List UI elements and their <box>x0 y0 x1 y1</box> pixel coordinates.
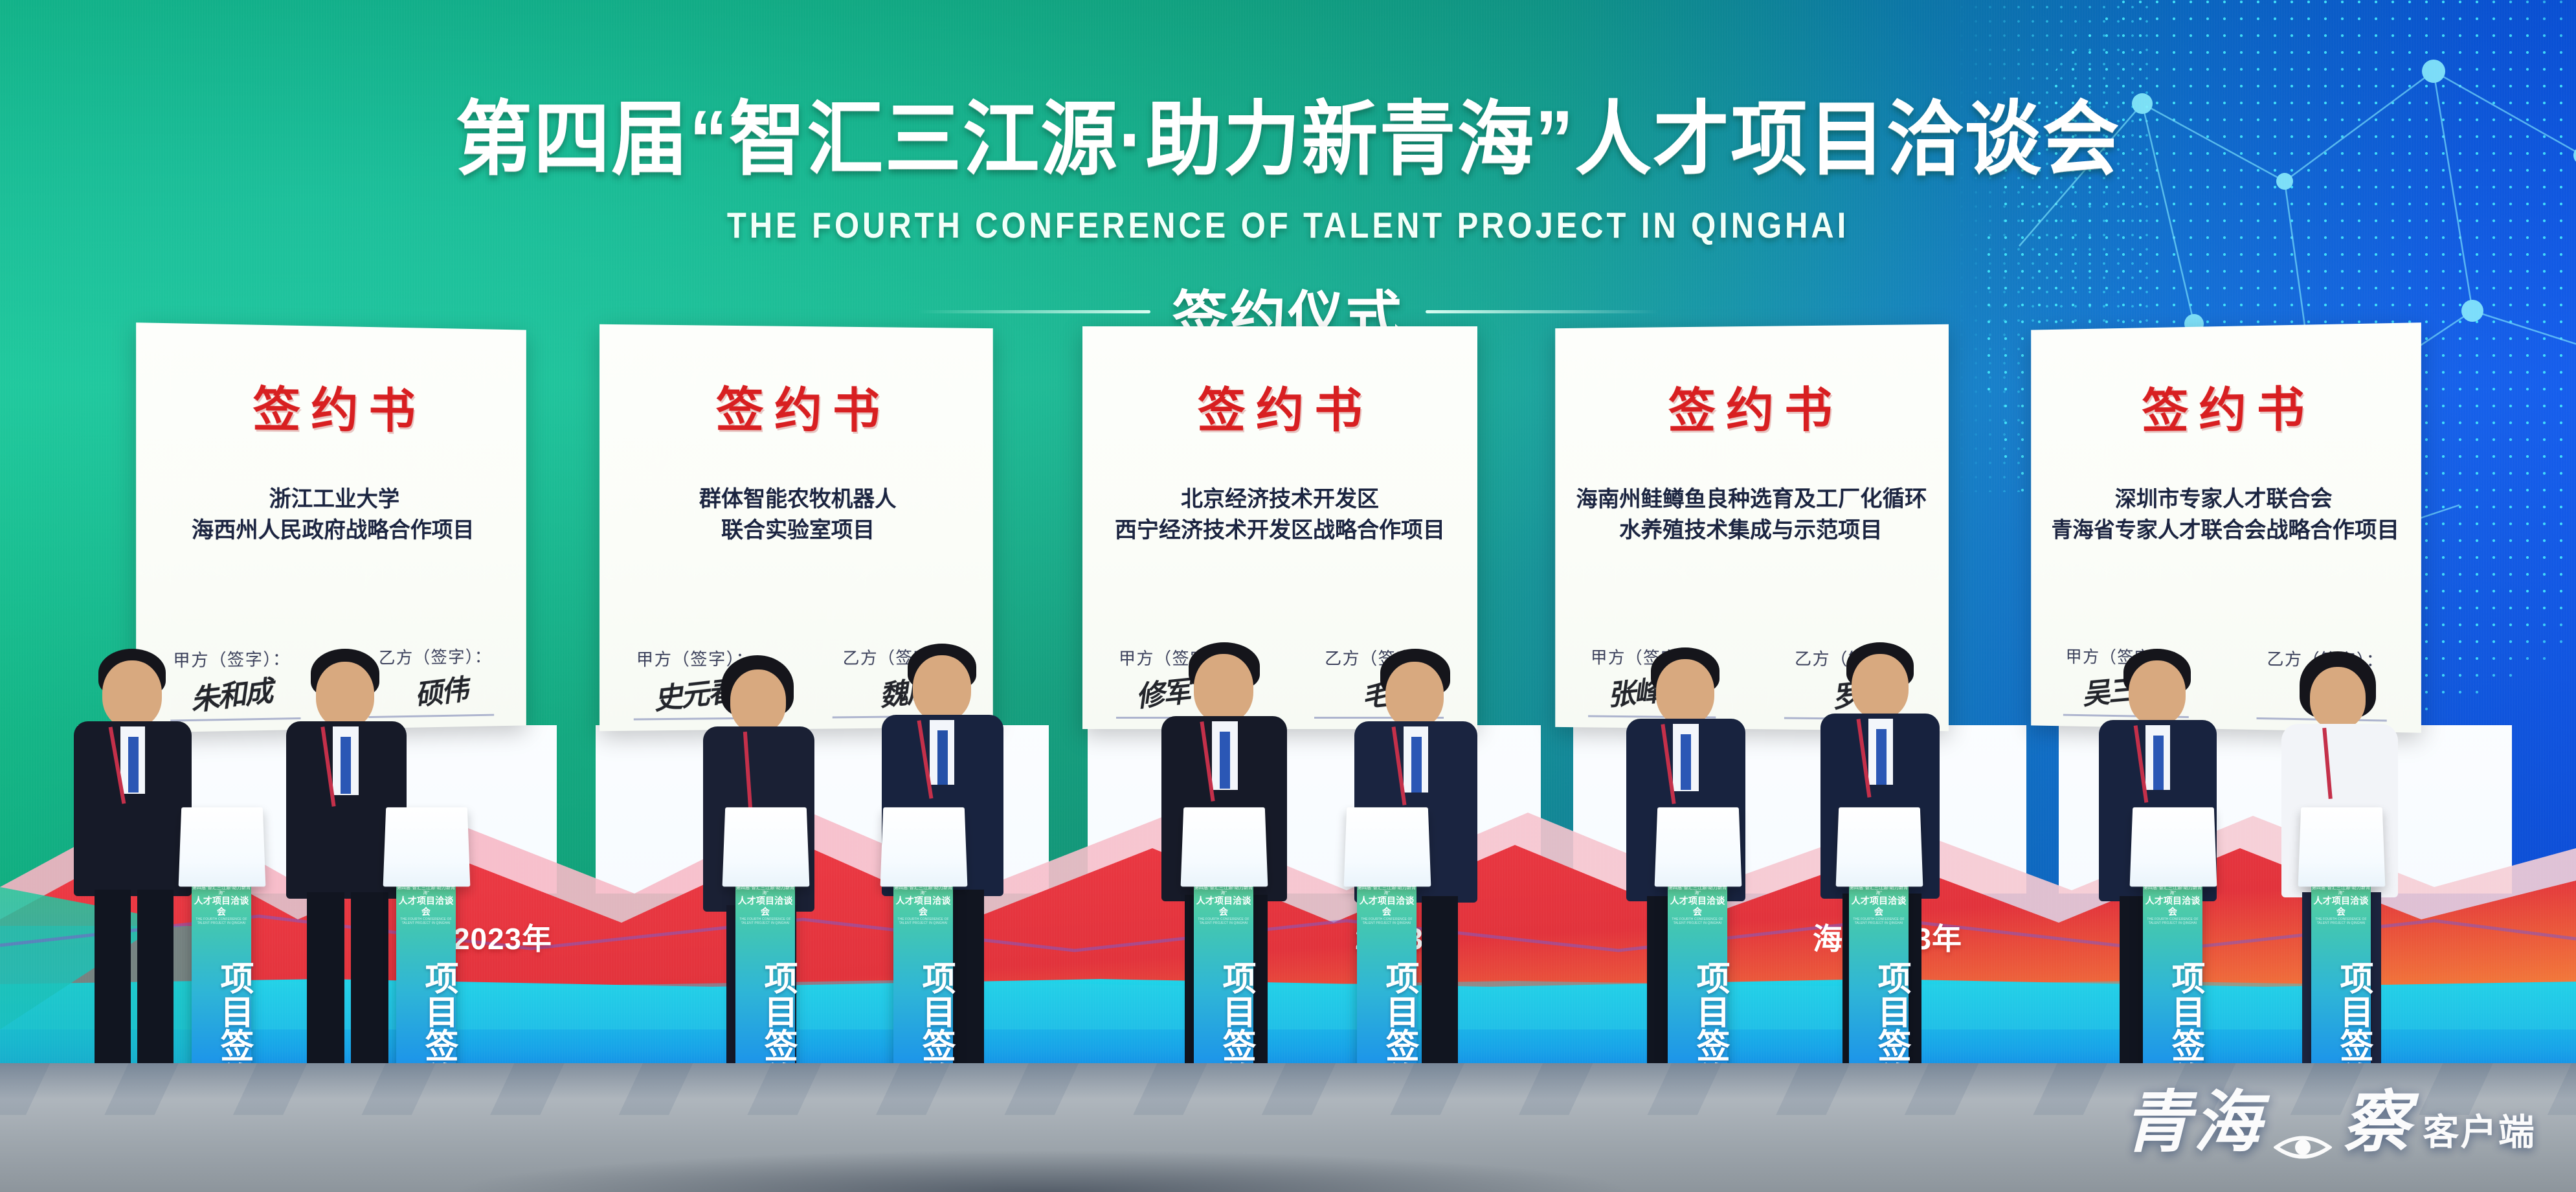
backdrop-year-label-1: 2023年 <box>453 916 552 958</box>
podium-desktop <box>1836 807 1923 887</box>
signature-party-b: 硕伟 <box>413 666 469 714</box>
podium-header-tiny: 第四届“智汇三江源·助力新青海” <box>192 886 251 895</box>
board-title: 签约书 <box>1082 372 1477 441</box>
podium-desktop <box>179 807 266 887</box>
podium-header-main: 人才项目洽谈会 <box>893 895 953 917</box>
podium-header-english: THE FOURTH CONFERENCE OF TALENT PROJECT … <box>192 917 251 925</box>
podium-header: 第四届“智汇三江源·助力新青海” 人才项目洽谈会 THE FOURTH CONF… <box>1668 886 1727 925</box>
board-project: 群体智能农牧机器人 联合实验室项目 <box>599 483 993 546</box>
podium-desktop <box>2130 807 2217 887</box>
podium-header-main: 人才项目洽谈会 <box>2143 895 2202 917</box>
podium-header: 第四届“智汇三江源·助力新青海” 人才项目洽谈会 THE FOURTH CONF… <box>2311 886 2371 925</box>
podium-desktop <box>1655 807 1742 887</box>
podium-header-english: THE FOURTH CONFERENCE OF TALENT PROJECT … <box>1194 917 1253 925</box>
podium-header-main: 人才项目洽谈会 <box>1357 895 1417 917</box>
subtitle-rule-right <box>1426 310 1659 313</box>
podium-desktop <box>383 807 471 887</box>
board-title: 签约书 <box>136 368 526 442</box>
podium-desktop <box>722 807 810 887</box>
eye-icon <box>2274 1130 2332 1165</box>
conference-signing-ceremony-photo: 第四届“智汇三江源·助力新青海”人才项目洽谈会 THE FOURTH CONFE… <box>0 0 2576 1192</box>
podium-header-main: 人才项目洽谈会 <box>1849 895 1909 917</box>
podium-header-tiny: 第四届“智汇三江源·助力新青海” <box>2143 886 2202 895</box>
podium-header: 第四届“智汇三江源·助力新青海” 人才项目洽谈会 THE FOURTH CONF… <box>893 886 953 925</box>
subtitle-rule-left <box>917 310 1150 313</box>
podium-header-english: THE FOURTH CONFERENCE OF TALENT PROJECT … <box>735 917 795 925</box>
podium-header-tiny: 第四届“智汇三江源·助力新青海” <box>735 886 795 895</box>
podium-header-main: 人才项目洽谈会 <box>1668 895 1727 917</box>
podium-header-main: 人才项目洽谈会 <box>735 895 795 917</box>
podium-header: 第四届“智汇三江源·助力新青海” 人才项目洽谈会 THE FOURTH CONF… <box>1849 886 1909 925</box>
podium-header: 第四届“智汇三江源·助力新青海” 人才项目洽谈会 THE FOURTH CONF… <box>1194 886 1253 925</box>
podium-header: 第四届“智汇三江源·助力新青海” 人才项目洽谈会 THE FOURTH CONF… <box>192 886 251 925</box>
podium-header-main: 人才项目洽谈会 <box>192 895 251 917</box>
podium-header-main: 人才项目洽谈会 <box>1194 895 1253 917</box>
signature-party-a: 朱和成 <box>188 668 273 719</box>
podium-header-tiny: 第四届“智汇三江源·助力新青海” <box>1357 886 1417 895</box>
podium-header: 第四届“智汇三江源·助力新青海” 人才项目洽谈会 THE FOURTH CONF… <box>1357 886 1417 925</box>
watermark-app-label: 客户端 <box>2423 1103 2536 1165</box>
podium-desktop <box>880 807 968 887</box>
podium-header-main: 人才项目洽谈会 <box>2311 895 2371 917</box>
board-project: 深圳市专家人才联合会 青海省专家人才联合会战略合作项目 <box>2031 483 2421 546</box>
headline-english: THE FOURTH CONFERENCE OF TALENT PROJECT … <box>26 205 2550 247</box>
board-title: 签约书 <box>599 370 993 442</box>
podium-header-english: THE FOURTH CONFERENCE OF TALENT PROJECT … <box>893 917 953 925</box>
podium-header-tiny: 第四届“智汇三江源·助力新青海” <box>1194 886 1253 895</box>
board-project: 海南州鲑鳟鱼良种选育及工厂化循环 水养殖技术集成与示范项目 <box>1555 483 1949 546</box>
podium-desktop <box>1181 807 1268 887</box>
podium-header-english: THE FOURTH CONFERENCE OF TALENT PROJECT … <box>2143 917 2202 925</box>
podium-header-english: THE FOURTH CONFERENCE OF TALENT PROJECT … <box>2311 917 2371 925</box>
podium-header: 第四届“智汇三江源·助力新青海” 人才项目洽谈会 THE FOURTH CONF… <box>735 886 795 925</box>
podium-header-tiny: 第四届“智汇三江源·助力新青海” <box>1668 886 1727 895</box>
board-project: 浙江工业大学 海西州人民政府战略合作项目 <box>136 483 526 546</box>
podium-header-tiny: 第四届“智汇三江源·助力新青海” <box>2311 886 2371 895</box>
board-title: 签约书 <box>1555 370 1949 442</box>
podium-desktop <box>1344 807 1431 887</box>
watermark: 青海 察 客户端 <box>2123 1067 2536 1165</box>
podium-header-tiny: 第四届“智汇三江源·助力新青海” <box>893 886 953 895</box>
podium-header-tiny: 第四届“智汇三江源·助力新青海” <box>396 886 456 895</box>
board-title: 签约书 <box>2031 368 2421 442</box>
podium-header-english: THE FOURTH CONFERENCE OF TALENT PROJECT … <box>396 917 456 925</box>
headline-block: 第四届“智汇三江源·助力新青海”人才项目洽谈会 THE FOURTH CONFE… <box>0 0 2576 352</box>
podium-header: 第四届“智汇三江源·助力新青海” 人才项目洽谈会 THE FOURTH CONF… <box>396 886 456 925</box>
podium-desktop <box>2298 807 2386 887</box>
watermark-logo-left: 青海 <box>2123 1067 2263 1165</box>
podium-header: 第四届“智汇三江源·助力新青海” 人才项目洽谈会 THE FOURTH CONF… <box>2143 886 2202 925</box>
podium-header-english: THE FOURTH CONFERENCE OF TALENT PROJECT … <box>1357 917 1417 925</box>
podium-header-tiny: 第四届“智汇三江源·助力新青海” <box>1849 886 1909 895</box>
podium-header-main: 人才项目洽谈会 <box>396 895 456 917</box>
podium-header-english: THE FOURTH CONFERENCE OF TALENT PROJECT … <box>1849 917 1909 925</box>
podium-header-english: THE FOURTH CONFERENCE OF TALENT PROJECT … <box>1668 917 1727 925</box>
board-project: 北京经济技术开发区 西宁经济技术开发区战略合作项目 <box>1082 484 1477 546</box>
watermark-logo-right: 察 <box>2342 1067 2412 1165</box>
headline-chinese: 第四届“智汇三江源·助力新青海”人才项目洽谈会 <box>0 73 2576 190</box>
floor-shadow <box>363 1134 1722 1192</box>
